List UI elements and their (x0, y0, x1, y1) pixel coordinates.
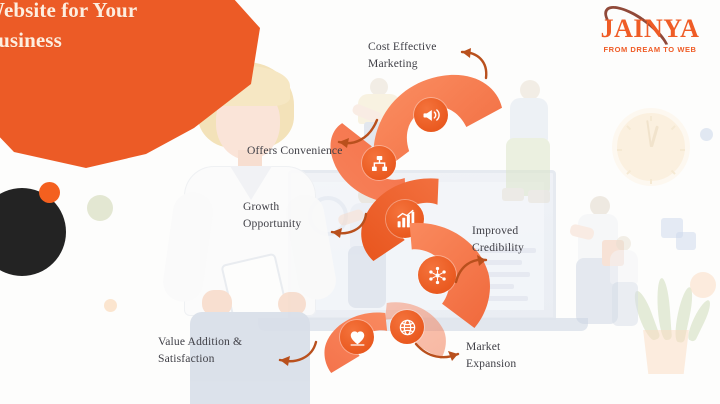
wall-clock-icon (612, 108, 690, 186)
decor-circle-orange (39, 182, 60, 203)
label-market-expansion: Market Expansion (466, 338, 516, 372)
decor-circle-olive (87, 195, 113, 221)
plant-flower (690, 272, 716, 298)
megaphone-icon (414, 98, 448, 132)
label-value-addition: Value Addition & Satisfaction (158, 333, 242, 367)
puzzle-piece-icon (676, 232, 696, 250)
network-people-icon (418, 256, 456, 294)
petal-value-addition[interactable] (318, 312, 398, 374)
arrow-growth-opportunity (324, 208, 370, 242)
arrow-value-addition (272, 338, 320, 368)
arrow-market-expansion (414, 338, 462, 364)
arrow-improved-credibility (452, 252, 492, 286)
page-title: Website for Your Business (0, 0, 214, 56)
arrow-offers-convenience (333, 116, 381, 150)
decor-circle-peach (104, 299, 117, 312)
heart-hands-icon (340, 320, 374, 354)
brand-logo[interactable]: JAINYA FROM DREAM TO WEB (592, 14, 708, 66)
label-growth-opportunity: Growth Opportunity (243, 198, 301, 232)
person-illustration (604, 236, 646, 332)
arrow-cost-effective-marketing (452, 46, 490, 82)
potted-plant-icon (640, 330, 692, 374)
logo-brand-name: JAINYA (592, 14, 708, 44)
label-cost-effective-marketing: Cost Effective Marketing (368, 38, 437, 72)
label-offers-convenience: Offers Convenience (247, 142, 343, 159)
decor-circle (700, 128, 713, 141)
infographic-canvas: Website for Your Business JAINYA FROM DR… (0, 0, 720, 404)
